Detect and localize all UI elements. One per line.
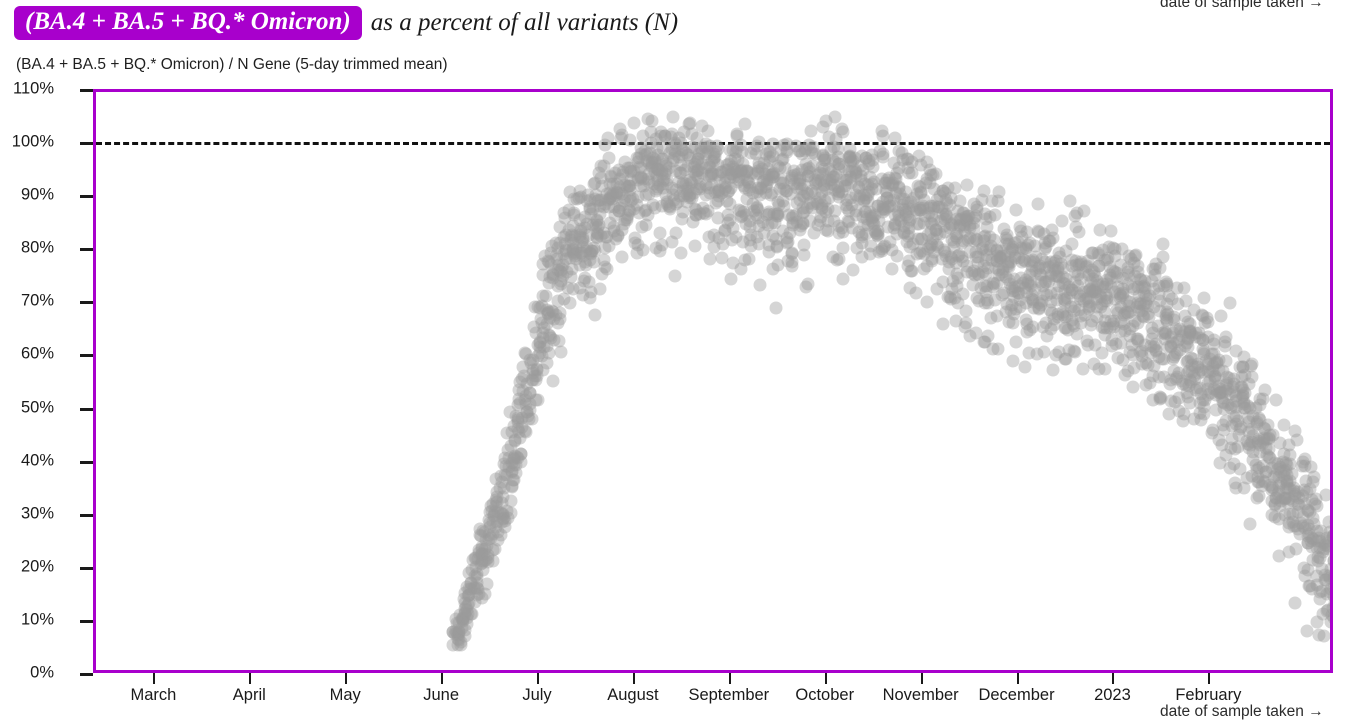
data-point	[825, 178, 838, 191]
data-point	[1288, 489, 1301, 502]
data-point	[992, 263, 1005, 276]
data-point	[1097, 278, 1110, 291]
data-point	[486, 543, 499, 556]
data-point	[1319, 489, 1330, 502]
data-point	[553, 258, 566, 271]
data-point	[500, 459, 513, 472]
data-point	[764, 188, 777, 201]
data-point	[1143, 289, 1156, 302]
data-point	[1018, 253, 1031, 266]
data-point	[1183, 326, 1196, 339]
data-point	[578, 256, 591, 269]
data-point	[875, 244, 888, 257]
data-point	[1040, 240, 1053, 253]
data-point	[627, 117, 640, 130]
data-point	[683, 189, 696, 202]
data-point	[1323, 585, 1330, 598]
data-point	[1030, 251, 1043, 264]
data-point	[1236, 389, 1249, 402]
data-point	[1301, 625, 1314, 638]
data-point	[1246, 357, 1259, 370]
data-point	[491, 495, 504, 508]
data-point	[471, 567, 484, 580]
data-point	[931, 228, 944, 241]
data-point	[780, 184, 793, 197]
data-point	[1130, 332, 1143, 345]
data-point	[534, 312, 547, 325]
data-point	[912, 232, 925, 245]
data-point	[877, 240, 890, 253]
data-point	[887, 157, 900, 170]
data-point	[565, 270, 578, 283]
data-point	[452, 628, 465, 641]
data-point	[1007, 244, 1020, 257]
data-point	[1202, 330, 1215, 343]
data-point	[572, 191, 585, 204]
data-point	[934, 189, 947, 202]
data-point	[1187, 353, 1200, 366]
data-point	[766, 187, 779, 200]
data-point	[721, 217, 734, 230]
data-point	[979, 296, 992, 309]
data-point	[598, 139, 611, 152]
data-point	[1216, 439, 1229, 452]
data-point	[1279, 481, 1292, 494]
data-point	[1210, 388, 1223, 401]
data-point	[905, 156, 918, 169]
data-point	[1146, 275, 1159, 288]
data-point	[1318, 630, 1330, 643]
data-point	[1184, 352, 1197, 365]
data-point	[1014, 220, 1027, 233]
data-point	[1206, 365, 1219, 378]
data-point	[859, 205, 872, 218]
data-point	[482, 529, 495, 542]
data-point	[856, 210, 869, 223]
data-point	[1253, 438, 1266, 451]
data-point	[1278, 469, 1291, 482]
data-point	[501, 511, 514, 524]
data-point	[844, 143, 857, 156]
data-point	[486, 527, 499, 540]
data-point	[1111, 266, 1124, 279]
data-point	[1115, 316, 1128, 329]
data-point	[595, 268, 608, 281]
data-point	[1238, 401, 1251, 414]
data-point	[875, 172, 888, 185]
data-point	[1229, 345, 1242, 358]
data-point	[1224, 462, 1237, 475]
data-point	[1138, 311, 1151, 324]
data-point	[1259, 465, 1272, 478]
data-point	[586, 219, 599, 232]
data-point	[1135, 304, 1148, 317]
data-point	[880, 185, 893, 198]
data-point	[1173, 334, 1186, 347]
data-point	[1122, 249, 1135, 262]
data-point	[1105, 339, 1118, 352]
data-point	[889, 172, 902, 185]
data-point	[815, 202, 828, 215]
data-point	[592, 221, 605, 234]
data-point	[818, 178, 831, 191]
data-point	[868, 218, 881, 231]
data-point	[1206, 347, 1219, 360]
data-point	[610, 189, 623, 202]
data-point	[899, 204, 912, 217]
data-point	[833, 190, 846, 203]
data-point	[1220, 385, 1233, 398]
data-point	[667, 151, 680, 164]
data-point	[608, 166, 621, 179]
data-point	[624, 191, 637, 204]
data-point	[877, 202, 890, 215]
data-point	[767, 262, 780, 275]
data-point	[753, 219, 766, 232]
data-point	[1135, 349, 1148, 362]
data-point	[986, 277, 999, 290]
data-point	[1238, 350, 1251, 363]
data-point	[1025, 259, 1038, 272]
data-point	[458, 629, 471, 642]
data-point	[682, 184, 695, 197]
data-point	[817, 154, 830, 167]
data-point	[1096, 280, 1109, 293]
data-point	[725, 182, 738, 195]
data-point	[1161, 305, 1174, 318]
data-point	[1059, 310, 1072, 323]
data-point	[1323, 570, 1330, 583]
data-point	[783, 226, 796, 239]
data-point	[643, 147, 656, 160]
data-point	[960, 316, 973, 329]
data-point	[914, 203, 927, 216]
data-point	[476, 547, 489, 560]
data-point	[951, 271, 964, 284]
data-point	[1032, 198, 1045, 211]
data-point	[574, 281, 587, 294]
data-point	[1018, 361, 1031, 374]
data-point	[734, 204, 747, 217]
data-point	[957, 234, 970, 247]
data-point	[527, 373, 540, 386]
data-point	[504, 439, 517, 452]
data-point	[643, 156, 656, 169]
data-point	[1051, 286, 1064, 299]
data-point	[1119, 324, 1132, 337]
data-point	[790, 182, 803, 195]
data-point	[641, 172, 654, 185]
data-point	[685, 176, 698, 189]
data-point	[866, 183, 879, 196]
data-point	[605, 193, 618, 206]
data-point	[743, 215, 756, 228]
data-point	[712, 190, 725, 203]
data-point	[1040, 275, 1053, 288]
data-point	[801, 170, 814, 183]
data-point	[1129, 269, 1142, 282]
data-point	[1147, 394, 1160, 407]
data-point	[1321, 539, 1330, 552]
data-point	[844, 170, 857, 183]
data-point	[653, 227, 666, 240]
data-point	[1182, 379, 1195, 392]
data-point	[646, 152, 659, 165]
data-point	[825, 144, 838, 157]
data-point	[1153, 295, 1166, 308]
data-point	[1251, 463, 1264, 476]
data-point	[786, 210, 799, 223]
data-point	[514, 397, 527, 410]
data-point	[1163, 408, 1176, 421]
y-tick-label: 30%	[21, 504, 54, 523]
data-point	[1242, 377, 1255, 390]
data-point	[1326, 531, 1330, 544]
data-point	[927, 232, 940, 245]
data-point	[1028, 301, 1041, 314]
data-point	[980, 220, 993, 233]
data-point	[1323, 515, 1330, 528]
data-point	[927, 168, 940, 181]
data-point	[1302, 504, 1315, 517]
data-point	[1016, 277, 1029, 290]
data-point	[1289, 424, 1302, 437]
data-point	[853, 225, 866, 238]
data-point	[914, 185, 927, 198]
data-point	[814, 173, 827, 186]
data-point	[1164, 340, 1177, 353]
data-point	[1318, 542, 1330, 555]
data-point	[1065, 313, 1078, 326]
data-point	[1260, 448, 1273, 461]
data-point	[1204, 352, 1217, 365]
data-point	[510, 409, 523, 422]
data-point	[735, 263, 748, 276]
data-point	[712, 212, 725, 225]
data-point	[734, 165, 747, 178]
data-point	[1294, 527, 1307, 540]
data-point	[742, 177, 755, 190]
data-point	[1019, 314, 1032, 327]
data-point	[781, 232, 794, 245]
data-point	[1015, 256, 1028, 269]
data-point	[548, 313, 561, 326]
data-point	[690, 169, 703, 182]
data-point	[729, 231, 742, 244]
data-point	[1222, 398, 1235, 411]
data-point	[1184, 325, 1197, 338]
data-point	[1146, 326, 1159, 339]
data-point	[1242, 441, 1255, 454]
data-point	[741, 173, 754, 186]
data-point	[639, 144, 652, 157]
data-point	[911, 206, 924, 219]
data-point	[1245, 436, 1258, 449]
data-point	[1075, 256, 1088, 269]
data-point	[598, 197, 611, 210]
data-point	[776, 153, 789, 166]
data-point	[888, 218, 901, 231]
data-point	[1311, 535, 1324, 548]
data-point	[624, 161, 637, 174]
data-point	[1220, 448, 1233, 461]
data-point	[552, 242, 565, 255]
data-point	[1314, 586, 1327, 599]
data-point	[1032, 262, 1045, 275]
data-point	[926, 253, 939, 266]
data-point	[1083, 300, 1096, 313]
data-point	[946, 283, 959, 296]
data-point	[673, 151, 686, 164]
data-point	[1000, 298, 1013, 311]
data-point	[800, 202, 813, 215]
data-point	[797, 248, 810, 261]
data-point	[1267, 481, 1280, 494]
data-point	[612, 205, 625, 218]
data-point	[1226, 432, 1239, 445]
data-point	[1282, 439, 1295, 452]
x-tick-mark	[825, 673, 827, 684]
data-point	[895, 146, 908, 159]
data-point	[877, 205, 890, 218]
data-point	[1243, 425, 1256, 438]
data-point	[1256, 475, 1269, 488]
data-point	[1027, 254, 1040, 267]
data-point	[609, 232, 622, 245]
data-point	[655, 125, 668, 138]
data-point	[844, 151, 857, 164]
data-point	[917, 202, 930, 215]
data-point	[1053, 346, 1066, 359]
data-point	[505, 425, 518, 438]
data-point	[1056, 309, 1069, 322]
data-point	[1129, 249, 1142, 262]
data-point	[1035, 298, 1048, 311]
data-point	[646, 114, 659, 127]
data-point	[581, 188, 594, 201]
data-point	[926, 239, 939, 252]
data-point	[475, 556, 488, 569]
data-point	[1052, 247, 1065, 260]
data-point	[1269, 469, 1282, 482]
data-point	[1157, 237, 1170, 250]
data-point	[509, 459, 522, 472]
data-point	[486, 516, 499, 529]
data-point	[1201, 315, 1214, 328]
data-point	[1190, 327, 1203, 340]
data-point	[1011, 286, 1024, 299]
data-point	[1152, 370, 1165, 383]
data-point	[766, 170, 779, 183]
data-point	[456, 614, 469, 627]
data-point	[902, 260, 915, 273]
data-point	[1108, 249, 1121, 262]
data-point	[699, 161, 712, 174]
data-point	[1243, 517, 1256, 530]
data-point	[1142, 307, 1155, 320]
data-point	[490, 491, 503, 504]
data-point	[972, 251, 985, 264]
data-point	[1267, 429, 1280, 442]
data-point	[1304, 505, 1317, 518]
data-point	[772, 195, 785, 208]
data-point	[594, 208, 607, 221]
data-point	[660, 159, 673, 172]
data-point	[1182, 340, 1195, 353]
data-point	[604, 192, 617, 205]
data-point	[1220, 330, 1233, 343]
data-point	[860, 212, 873, 225]
data-point	[1021, 325, 1034, 338]
data-point	[498, 511, 511, 524]
data-point	[803, 196, 816, 209]
data-point	[663, 146, 676, 159]
data-point	[857, 163, 870, 176]
data-point	[971, 204, 984, 217]
data-point	[978, 259, 991, 272]
data-point	[667, 189, 680, 202]
data-point	[943, 198, 956, 211]
data-point	[1072, 268, 1085, 281]
data-point	[763, 154, 776, 167]
data-point	[1114, 290, 1127, 303]
data-point	[869, 224, 882, 237]
data-point	[1324, 572, 1330, 585]
data-point	[680, 187, 693, 200]
data-point	[481, 549, 494, 562]
data-point	[536, 331, 549, 344]
data-point	[1069, 210, 1082, 223]
data-point	[1094, 291, 1107, 304]
data-point	[771, 159, 784, 172]
data-point	[565, 230, 578, 243]
data-point	[1194, 388, 1207, 401]
data-point	[831, 253, 844, 266]
data-point	[1015, 225, 1028, 238]
data-point	[682, 190, 695, 203]
data-point	[1064, 286, 1077, 299]
data-point	[612, 230, 625, 243]
data-point	[815, 202, 828, 215]
data-point	[453, 625, 466, 638]
data-point	[1175, 330, 1188, 343]
data-point	[1161, 277, 1174, 290]
data-point	[507, 473, 520, 486]
data-point	[1184, 375, 1197, 388]
data-point	[637, 172, 650, 185]
data-point	[881, 173, 894, 186]
data-point	[754, 189, 767, 202]
data-point	[1160, 297, 1173, 310]
data-point	[1170, 370, 1183, 383]
data-point	[950, 268, 963, 281]
data-point	[814, 215, 827, 228]
data-point	[1236, 360, 1249, 373]
data-point	[1093, 289, 1106, 302]
data-point	[541, 317, 554, 330]
data-point	[576, 246, 589, 259]
data-point	[1309, 497, 1322, 510]
data-point	[684, 152, 697, 165]
data-point	[1264, 479, 1277, 492]
data-point	[795, 147, 808, 160]
data-point	[1253, 414, 1266, 427]
data-point	[699, 188, 712, 201]
data-point	[785, 172, 798, 185]
data-point	[954, 213, 967, 226]
data-point	[1154, 392, 1167, 405]
x-tick-label: July	[522, 686, 551, 705]
